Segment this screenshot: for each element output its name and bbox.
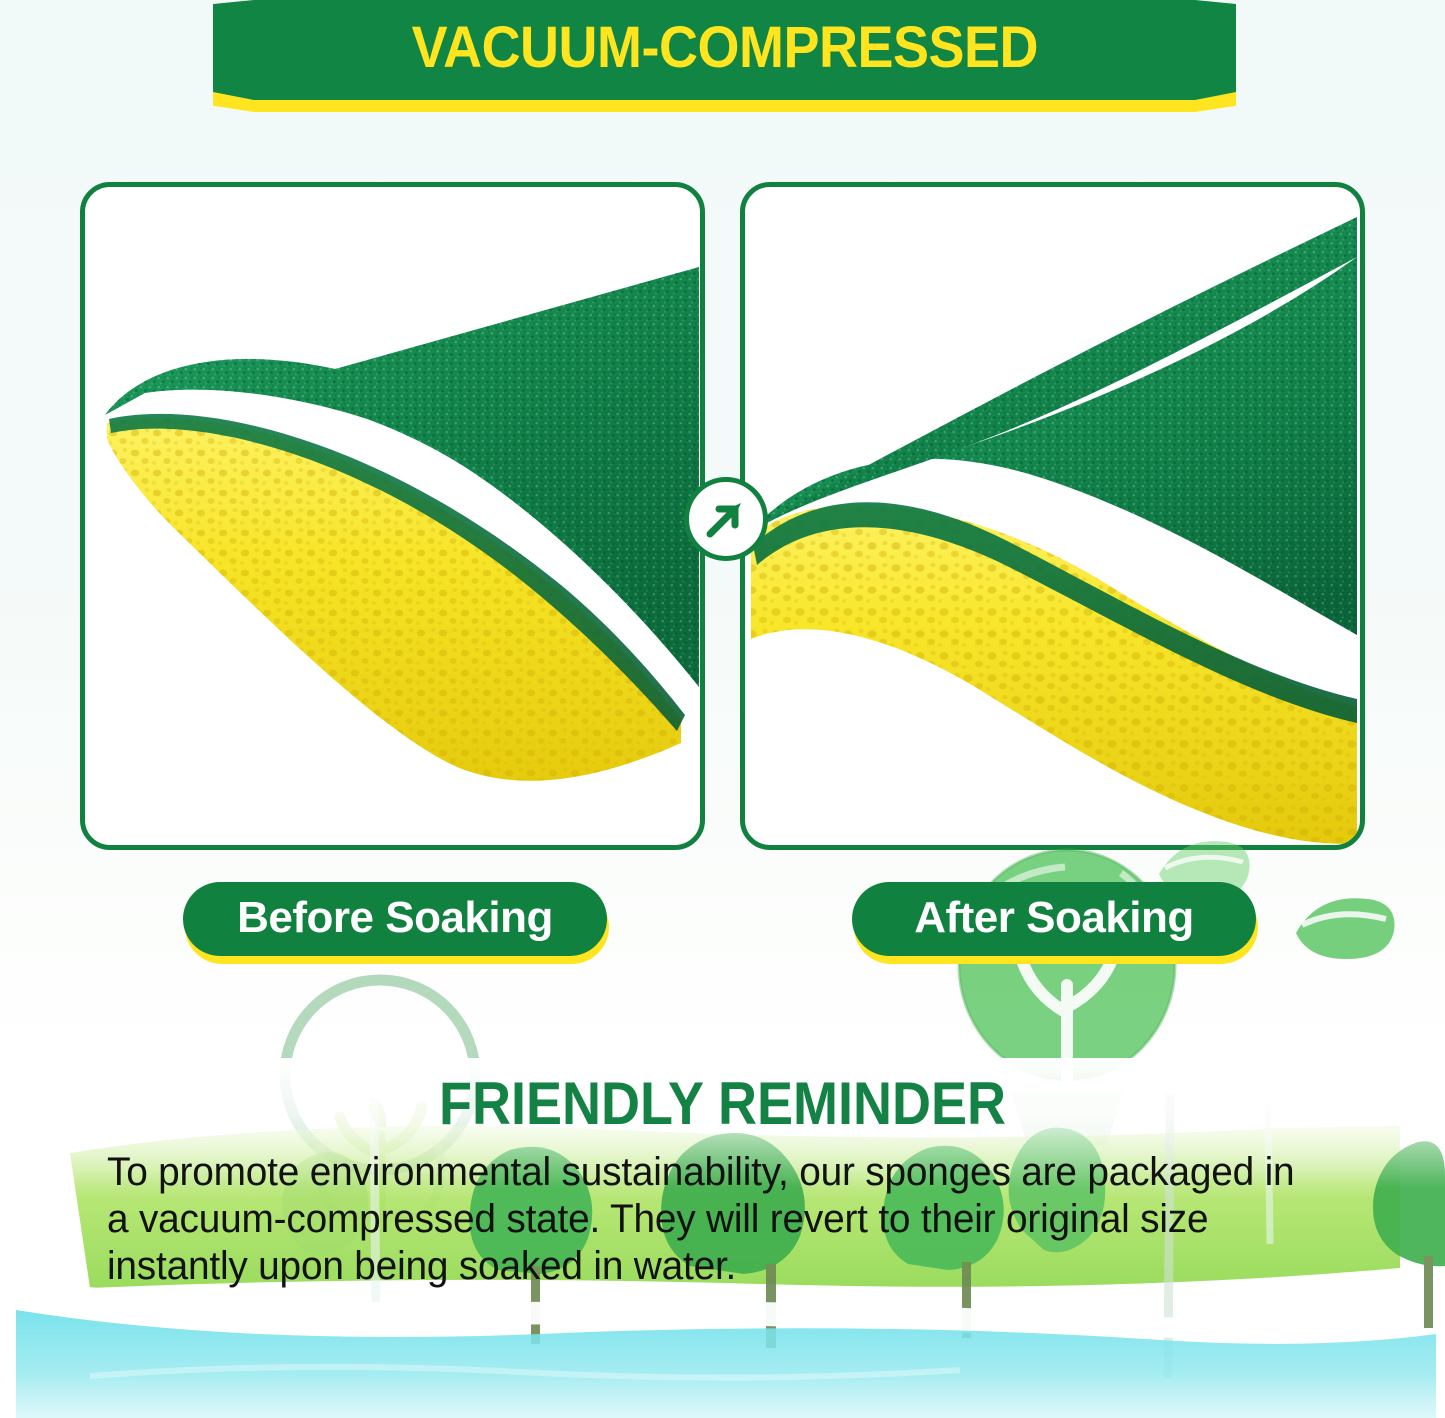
arrow-up-right-icon [701,494,751,544]
reminder-title: FRIENDLY REMINDER [72,1072,1373,1135]
caption-after-soaking: After Soaking [852,882,1256,964]
reminder-body: To promote environmental sustainability,… [107,1149,1302,1289]
banner-title: VACUUM-COMPRESSED [411,19,1037,81]
caption-before-soaking: Before Soaking [183,882,607,964]
leaf-icon [1290,885,1400,965]
infographic-root: VACUUM-COMPRESSED [0,0,1445,1418]
vacuum-compressed-banner: VACUUM-COMPRESSED [213,0,1236,112]
pill-body: Before Soaking [183,882,607,956]
caption-label: Before Soaking [237,896,553,943]
pill-body: After Soaking [852,882,1256,956]
banner-body: VACUUM-COMPRESSED [213,0,1236,100]
sponge-after-image [745,187,1360,845]
panel-after-soaking [740,182,1365,850]
friendly-reminder-block: FRIENDLY REMINDER To promote environment… [0,1072,1445,1289]
caption-label: After Soaking [914,896,1194,943]
transformation-arrow-badge [684,477,768,561]
panel-before-soaking [80,182,705,850]
sponge-before-image [85,187,700,845]
